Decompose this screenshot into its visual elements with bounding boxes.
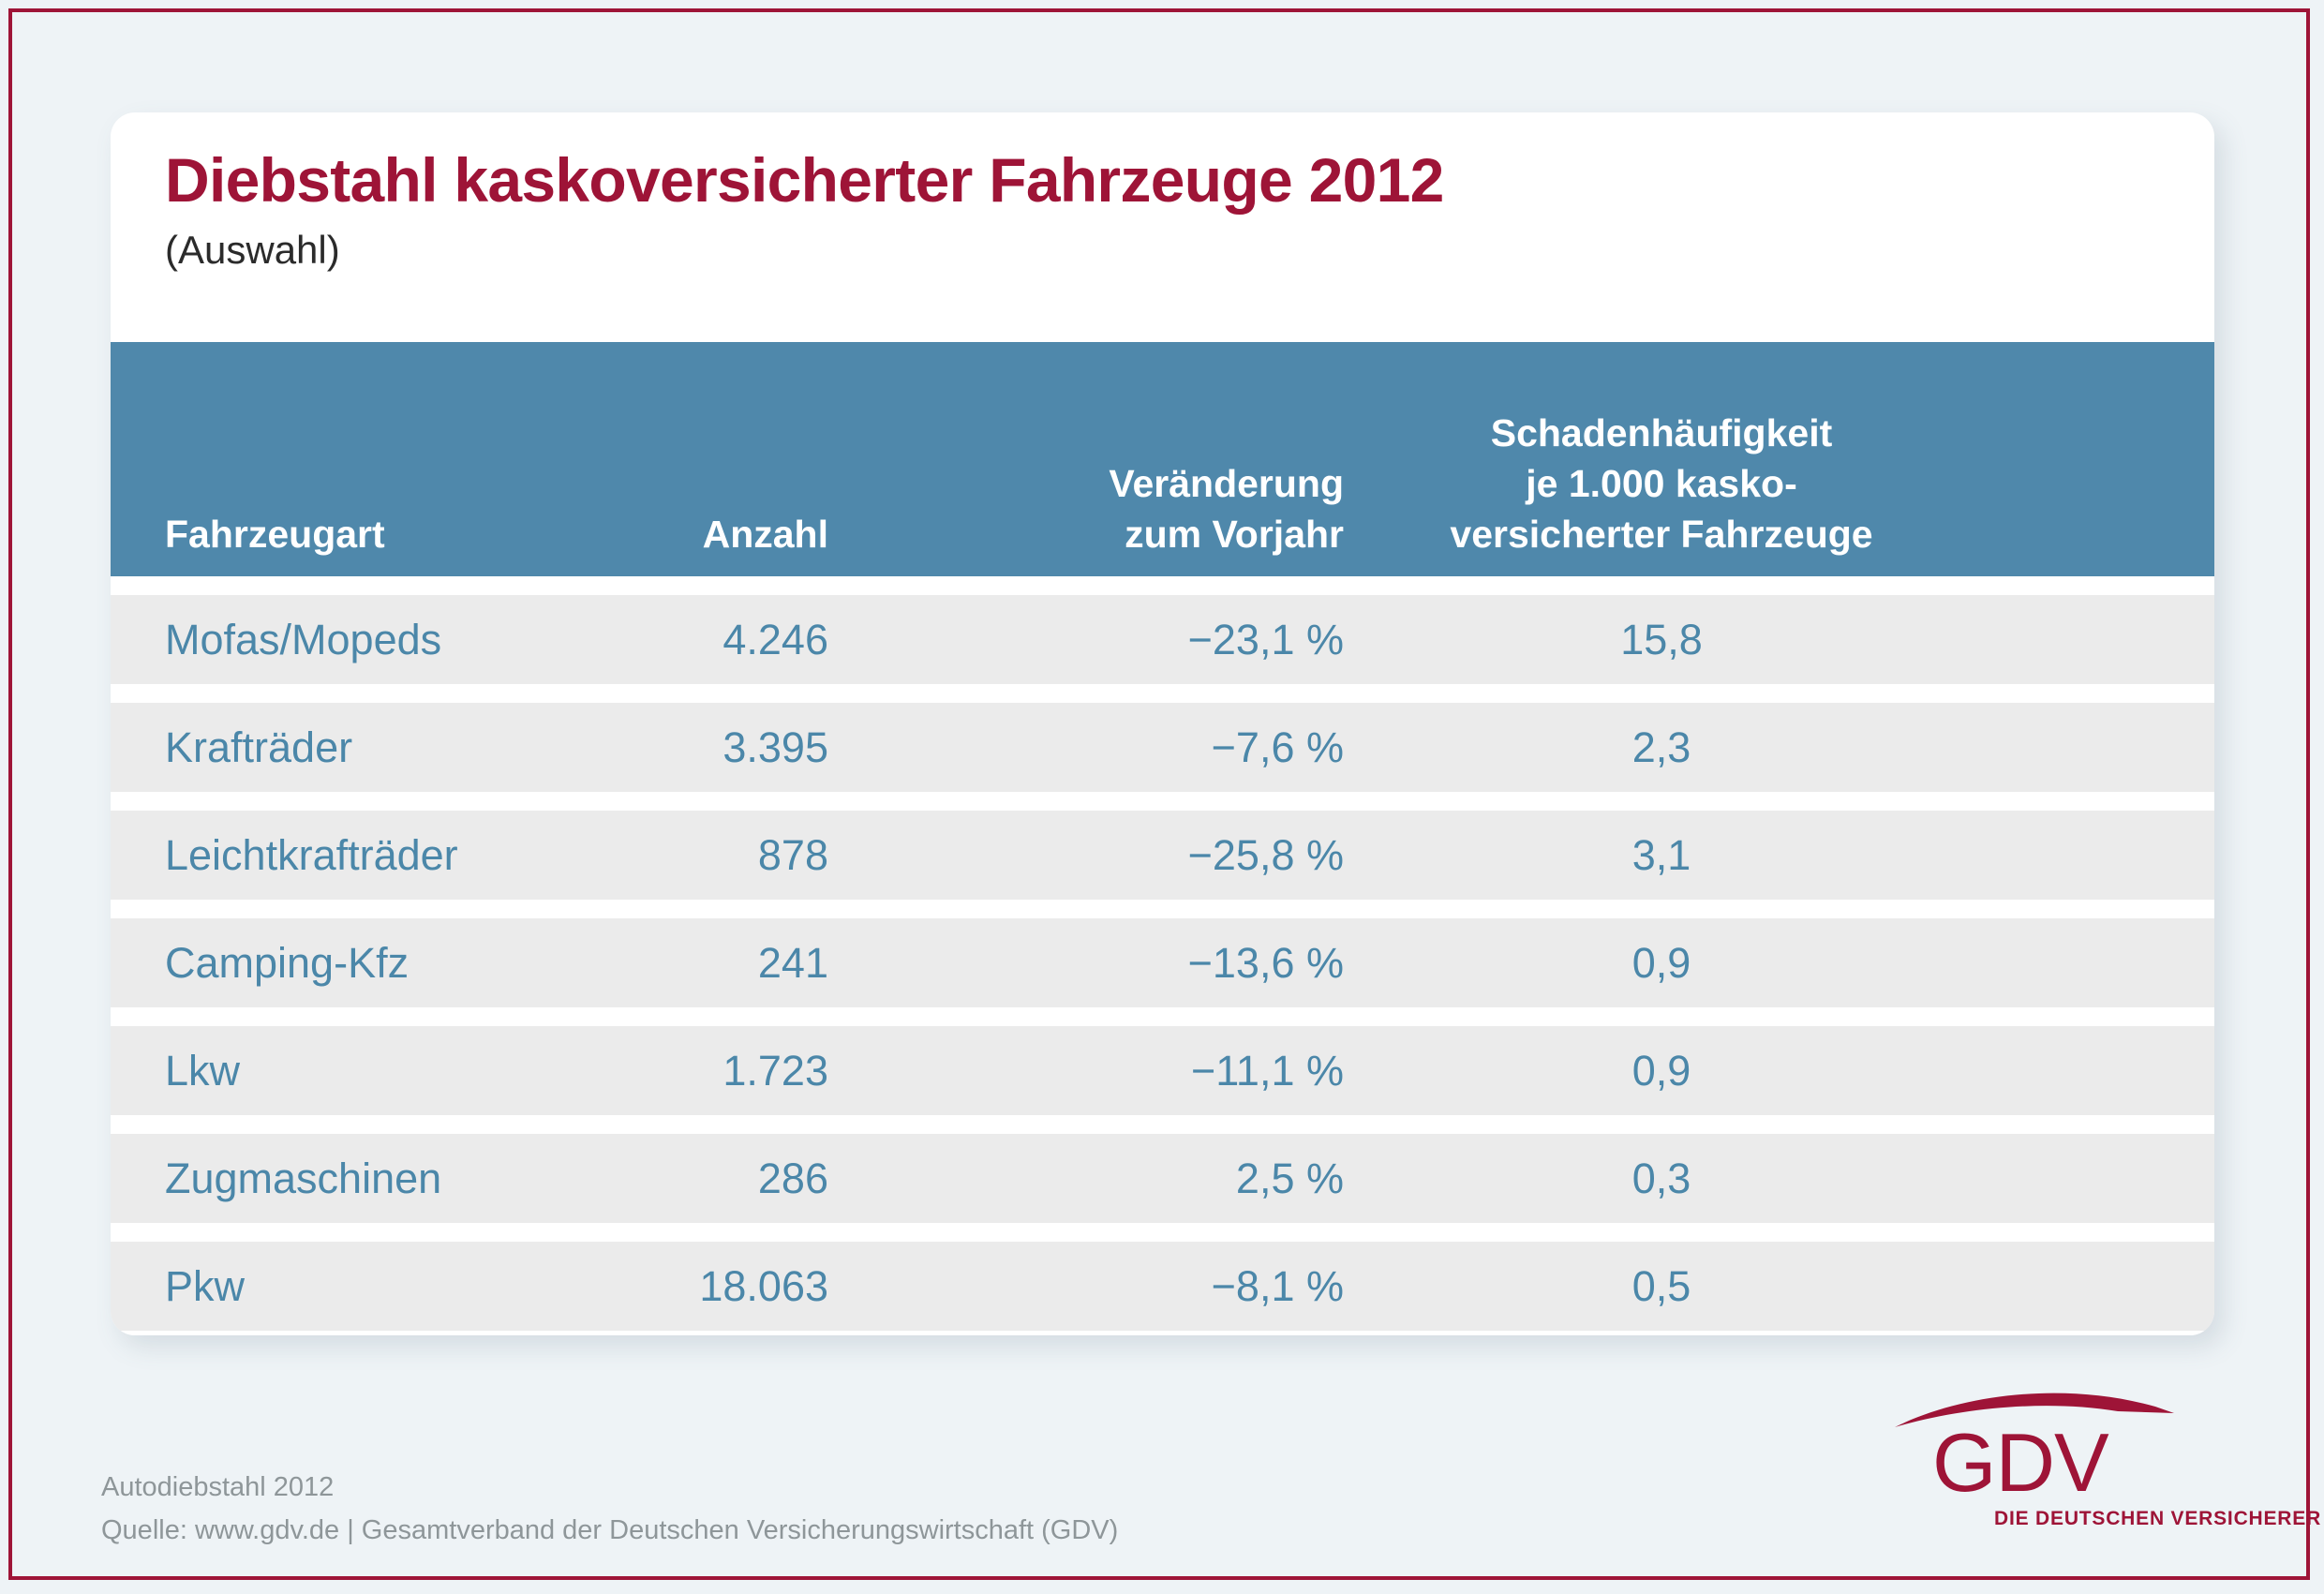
row-divider (111, 792, 2214, 811)
row-divider (111, 576, 2214, 595)
page-subtitle: (Auswahl) (165, 229, 2133, 272)
table-row: Krafträder 3.395 −7,6 % 2,3 (111, 703, 2214, 792)
cell-schadenhaeufigkeit: 0,5 (1394, 1262, 1929, 1311)
cell-veraenderung: −8,1 % (870, 1262, 1394, 1311)
cell-fahrzeugart: Mofas/Mopeds (111, 616, 598, 664)
cell-schadenhaeufigkeit: 0,9 (1394, 939, 1929, 988)
cell-anzahl: 241 (598, 939, 870, 988)
cell-anzahl: 18.063 (598, 1262, 870, 1311)
footer-line-topic: Autodiebstahl 2012 (101, 1467, 1413, 1510)
table-row: Zugmaschinen 286 2,5 % 0,3 (111, 1134, 2214, 1223)
cell-anzahl: 1.723 (598, 1047, 870, 1095)
cell-veraenderung: −13,6 % (870, 939, 1394, 988)
cell-veraenderung: 2,5 % (870, 1155, 1394, 1203)
column-header-schadenhaeufigkeit: Schadenhäufigkeit je 1.000 kasko- versic… (1394, 408, 1929, 559)
cell-fahrzeugart: Camping-Kfz (111, 939, 598, 988)
table-header-row: Fahrzeugart Anzahl Veränderung zum Vorja… (111, 342, 2214, 576)
cell-anzahl: 3.395 (598, 723, 870, 772)
page-title: Diebstahl kaskoversicherter Fahrzeuge 20… (165, 148, 2133, 214)
footer-line-source: Quelle: www.gdv.de | Gesamtverband der D… (101, 1510, 1413, 1553)
cell-anzahl: 286 (598, 1155, 870, 1203)
cell-veraenderung: −23,1 % (870, 616, 1394, 664)
table-row: Camping-Kfz 241 −13,6 % 0,9 (111, 918, 2214, 1007)
infographic-card: Diebstahl kaskoversicherter Fahrzeuge 20… (111, 112, 2214, 1335)
cell-fahrzeugart: Krafträder (111, 723, 598, 772)
column-header-fahrzeugart: Fahrzeugart (111, 509, 598, 559)
data-table: Fahrzeugart Anzahl Veränderung zum Vorja… (111, 342, 2214, 1335)
column-header-veraenderung: Veränderung zum Vorjahr (870, 458, 1394, 559)
cell-veraenderung: −11,1 % (870, 1047, 1394, 1095)
row-divider (111, 1115, 2214, 1134)
row-divider (111, 1007, 2214, 1026)
column-header-veraenderung-line2: zum Vorjahr (870, 509, 1344, 559)
cell-schadenhaeufigkeit: 15,8 (1394, 616, 1929, 664)
cell-fahrzeugart: Lkw (111, 1047, 598, 1095)
column-header-schadenhaeufigkeit-line1: Schadenhäufigkeit (1394, 408, 1929, 458)
cell-fahrzeugart: Leichtkrafträder (111, 831, 598, 880)
footer: Autodiebstahl 2012 Quelle: www.gdv.de | … (101, 1467, 1413, 1553)
cell-anzahl: 878 (598, 831, 870, 880)
row-divider (111, 1223, 2214, 1242)
table-row: Mofas/Mopeds 4.246 −23,1 % 15,8 (111, 595, 2214, 684)
row-divider (111, 900, 2214, 918)
cell-veraenderung: −7,6 % (870, 723, 1394, 772)
gdv-wordmark: GDV (1932, 1422, 2108, 1504)
column-header-veraenderung-line1: Veränderung (870, 458, 1344, 509)
cell-anzahl: 4.246 (598, 616, 870, 664)
gdv-tagline: DIE DEUTSCHEN VERSICHERER (1994, 1508, 2321, 1530)
row-divider (111, 1331, 2214, 1335)
cell-fahrzeugart: Pkw (111, 1262, 598, 1311)
table-row: Pkw 18.063 −8,1 % 0,5 (111, 1242, 2214, 1331)
table-row: Lkw 1.723 −11,1 % 0,9 (111, 1026, 2214, 1115)
column-header-anzahl: Anzahl (598, 509, 870, 559)
title-block: Diebstahl kaskoversicherter Fahrzeuge 20… (165, 148, 2133, 272)
gdv-logo: GDV DIE DEUTSCHEN VERSICHERER (1893, 1382, 2212, 1537)
cell-veraenderung: −25,8 % (870, 831, 1394, 880)
cell-schadenhaeufigkeit: 0,9 (1394, 1047, 1929, 1095)
column-header-schadenhaeufigkeit-line3: versicherter Fahrzeuge (1394, 509, 1929, 559)
row-divider (111, 684, 2214, 703)
cell-schadenhaeufigkeit: 2,3 (1394, 723, 1929, 772)
table-row: Leichtkrafträder 878 −25,8 % 3,1 (111, 811, 2214, 900)
cell-schadenhaeufigkeit: 0,3 (1394, 1155, 1929, 1203)
column-header-schadenhaeufigkeit-line2: je 1.000 kasko- (1394, 458, 1929, 509)
cell-schadenhaeufigkeit: 3,1 (1394, 831, 1929, 880)
cell-fahrzeugart: Zugmaschinen (111, 1155, 598, 1203)
